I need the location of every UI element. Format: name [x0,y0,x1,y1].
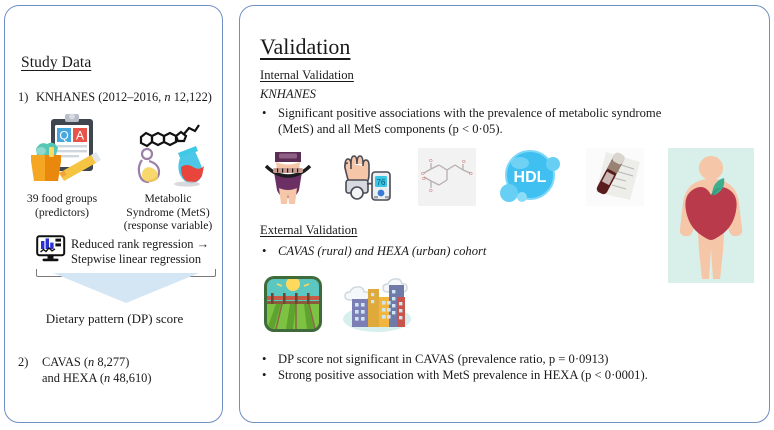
internal-validation-heading: Internal Validation [260,68,354,83]
hdl-bubble-icon: HDL [500,148,562,211]
validation-panel: Validation Internal Validation KNHANES •… [239,5,770,423]
metabolic-syndrome-icon [123,107,205,192]
cavas-hexa-text: CAVAS (n 8,277) and HEXA (n 48,610) [42,354,218,386]
svg-text:O: O [421,171,425,176]
svg-text:A: A [76,129,84,143]
response-variable-caption: Metabolic Syndrome (MetS) (response vari… [118,192,218,233]
cavas-after: 8,277) [94,355,129,369]
internal-cohort-label: KNHANES [260,87,316,102]
dietary-pattern-score-label: Dietary pattern (DP) score [5,311,224,327]
study-data-title: Study Data [21,54,91,72]
urban-city-buildings-icon [342,275,412,338]
predictors-caption: 39 food groups (predictors) [13,192,111,233]
rural-farm-field-icon [262,274,324,339]
svg-text:O: O [429,158,433,163]
external-validation-bullet: • CAVAS (rural) and HEXA (urban) cohort [262,243,682,259]
blood-pressure-monitor-icon: 76 [338,150,394,209]
internal-bullet-line2: (MetS) and all MetS components (p < 0·05… [278,122,503,136]
computer-monitor-chart-icon [36,235,66,268]
cohort-icon-row [262,274,412,339]
analysis-method-box: Reduced rank regression → Stepwise linea… [36,235,216,277]
svg-text:Q: Q [59,129,68,143]
svg-text:O: O [469,171,473,176]
bullet-icon: • [262,351,278,367]
down-arrow [53,273,199,303]
method-line-1: Reduced rank regression → [71,237,209,251]
method-line-2: Stepwise linear regression [71,252,201,266]
validation-results-list: • DP score not significant in CAVAS (pre… [262,351,742,384]
svg-text:O: O [462,159,466,164]
list-number-1: 1) [18,90,36,105]
internal-bullet-text: Significant positive associations with t… [278,105,692,138]
triglyceride-molecule-icon: OO OO OO [418,148,476,211]
knhanes-text-before: KNHANES (2012–2016, [36,90,164,104]
study-data-icon-row: Q A [15,110,215,192]
knhanes-study-line: 1)KNHANES (2012–2016, n 12,122) [18,90,218,105]
list-number-2: 2) [18,354,28,370]
questionnaire-clipboard-icon: Q A [25,111,103,192]
hdl-text: HDL [514,169,547,186]
analysis-method-row: Reduced rank regression → Stepwise linea… [36,235,216,268]
external-validation-heading: External Validation [260,223,357,238]
study-data-panel: Study Data 1)KNHANES (2012–2016, n 12,12… [4,5,223,423]
response-caption-line3: (response variable) [118,219,218,233]
hexa-before: and HEXA ( [42,371,104,385]
predictors-caption-line2: (predictors) [13,206,111,220]
svg-text:76: 76 [377,178,386,187]
response-caption-line2: Syndrome (MetS) [118,206,218,220]
waist-circumference-icon [262,148,314,211]
cavas-hexa-line: 2) CAVAS (n 8,277) and HEXA (n 48,610) [18,354,218,386]
apple-shaped-body-icon [668,148,754,288]
bullet-icon: • [262,367,278,383]
knhanes-text-after: 12,122) [171,90,212,104]
result-bullet-1: • DP score not significant in CAVAS (pre… [262,351,742,367]
predictors-caption-line1: 39 food groups [13,192,111,206]
svg-text:O: O [429,188,433,193]
hexa-after: 48,610) [110,371,151,385]
blood-sample-tube-icon [586,148,644,211]
svg-text:O: O [422,176,426,181]
result-bullet-1-text: DP score not significant in CAVAS (preva… [278,351,742,367]
internal-validation-bullet: • Significant positive associations with… [262,105,692,138]
response-caption-line1: Metabolic [118,192,218,206]
cavas-before: CAVAS ( [42,355,88,369]
external-bullet-text: CAVAS (rural) and HEXA (urban) cohort [278,243,682,259]
result-bullet-2-text: Strong positive association with MetS pr… [278,367,742,383]
bullet-icon: • [262,105,278,138]
analysis-method-text: Reduced rank regression → Stepwise linea… [71,237,209,266]
bullet-icon: • [262,243,278,259]
result-bullet-2: • Strong positive association with MetS … [262,367,742,383]
study-data-caption-row: 39 food groups (predictors) Metabolic Sy… [13,192,218,233]
internal-bullet-line1: Significant positive associations with t… [278,106,661,120]
validation-title: Validation [260,34,350,60]
mets-components-icon-row: 76 OO OO OO [262,148,644,211]
